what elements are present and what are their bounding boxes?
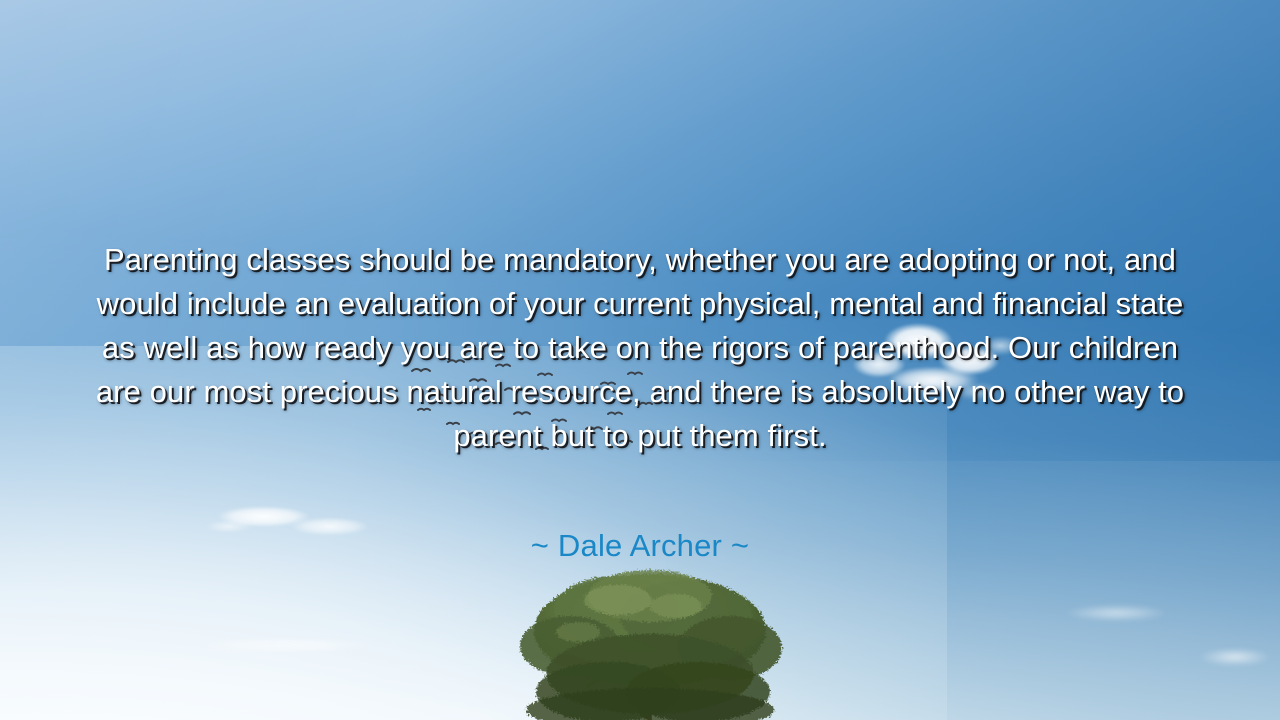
quote-text: Parenting classes should be mandatory, w… bbox=[80, 238, 1200, 458]
attribution-container: ~ Dale Archer ~ bbox=[290, 526, 990, 566]
quote-container: Parenting classes should be mandatory, w… bbox=[80, 238, 1200, 458]
quote-image: Parenting classes should be mandatory, w… bbox=[0, 0, 1280, 720]
lower-right-blue-tint bbox=[666, 461, 1280, 720]
attribution-text: ~ Dale Archer ~ bbox=[290, 526, 990, 566]
